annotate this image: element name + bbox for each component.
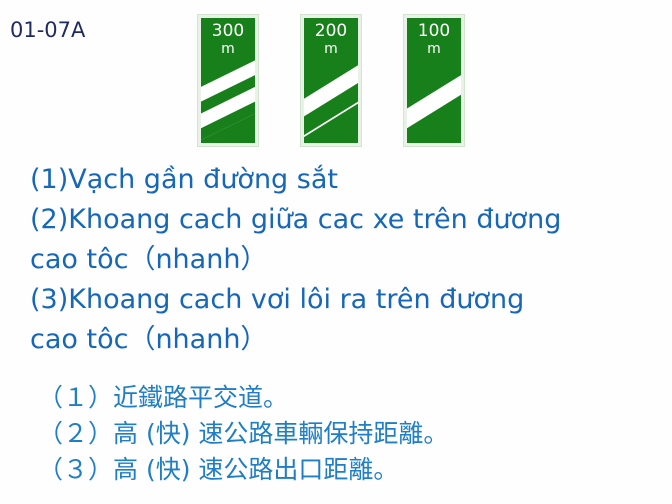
vietnamese-line-3-cont: cao tôc（nhanh） (30, 320, 660, 360)
chinese-line-1: （１）近鐵路平交道。 (38, 380, 668, 416)
vietnamese-line-2-cont: cao tôc（nhanh） (30, 240, 660, 280)
sign-panel-300m: 300 m (201, 18, 255, 143)
vietnamese-text-block: (1)Vạch gần đường sắt (2)Khoang cach giữ… (30, 160, 660, 360)
road-sign-group: 300 m 200 m (0, 0, 672, 160)
stripe-graphic-200m (304, 18, 358, 143)
chinese-line-2: （２）高 (快) 速公路車輛保持距離。 (38, 416, 668, 452)
chinese-line-3: （３）高 (快) 速公路出口距離。 (38, 452, 668, 488)
vietnamese-line-1: (1)Vạch gần đường sắt (30, 160, 660, 200)
slide-canvas: 01-07A 300 m (0, 0, 672, 504)
stripe-graphic-300m (201, 18, 255, 143)
road-sign-100m: 100 m (403, 14, 465, 147)
stripe-graphic-100m (407, 18, 461, 143)
chinese-text-block: （１）近鐵路平交道。 （２）高 (快) 速公路車輛保持距離。 （３）高 (快) … (38, 380, 668, 488)
sign-panel-200m: 200 m (304, 18, 358, 143)
road-sign-300m: 300 m (197, 14, 259, 147)
vietnamese-line-2: (2)Khoang cach giữa cac xe trên đương (30, 200, 660, 240)
road-sign-200m: 200 m (300, 14, 362, 147)
sign-panel-100m: 100 m (407, 18, 461, 143)
vietnamese-line-3: (3)Khoang cach vơi lôi ra trên đương (30, 280, 660, 320)
